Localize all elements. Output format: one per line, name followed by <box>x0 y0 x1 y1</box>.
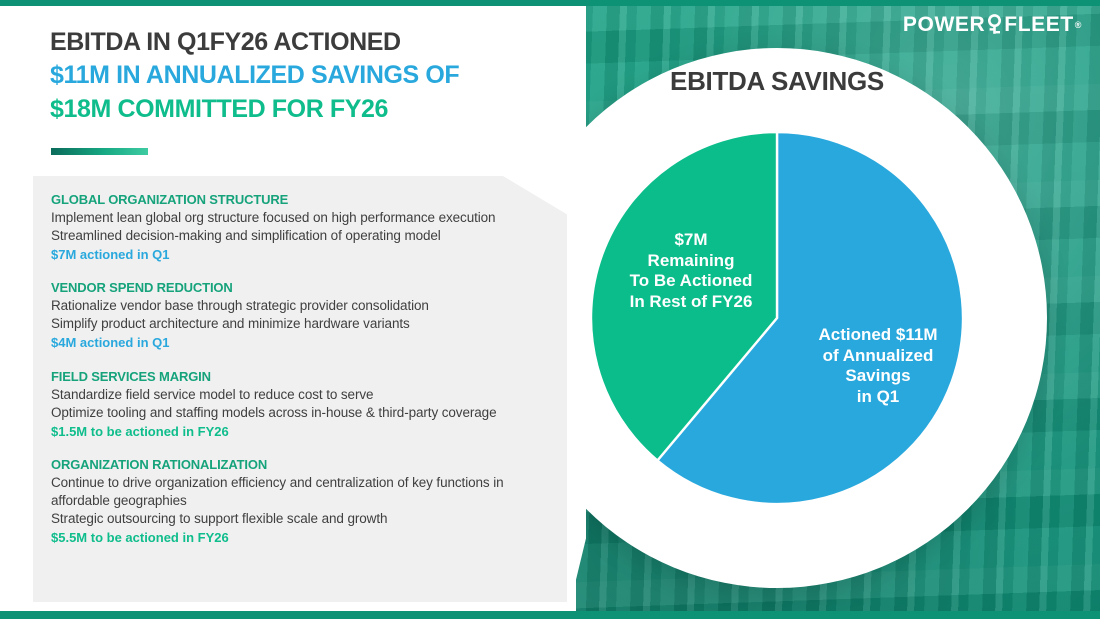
initiative-section: FIELD SERVICES MARGINStandardize field s… <box>51 369 511 440</box>
initiative-bullet: Implement lean global org structure focu… <box>51 209 511 227</box>
initiative-heading: FIELD SERVICES MARGIN <box>51 369 511 384</box>
initiative-heading: VENDOR SPEND REDUCTION <box>51 280 511 295</box>
chart-title: EBITDA SAVINGS <box>507 66 1047 97</box>
pie-slice-label-actioned: Actioned $11M of Annualized Savings in Q… <box>783 325 973 408</box>
top-accent-rule <box>0 0 1100 6</box>
logo-word-fleet: FLEET <box>1004 14 1074 35</box>
ebitda-savings-pie-chart <box>591 132 963 504</box>
initiative-bullet: Continue to drive organization efficienc… <box>51 474 511 510</box>
registered-mark-icon: ® <box>1075 20 1082 30</box>
initiative-savings-total: $4M actioned in Q1 <box>51 334 511 352</box>
initiative-bullet: Optimize tooling and staffing models acr… <box>51 404 511 422</box>
initiative-bullet: Standardize field service model to reduc… <box>51 386 511 404</box>
initiative-section: ORGANIZATION RATIONALIZATIONContinue to … <box>51 457 511 546</box>
initiative-section: VENDOR SPEND REDUCTIONRationalize vendor… <box>51 280 511 351</box>
powerfleet-mark-icon <box>986 14 1003 35</box>
logo-word-power: POWER <box>903 14 985 35</box>
page-title: EBITDA IN Q1FY26 ACTIONED $11M IN ANNUAL… <box>50 26 550 126</box>
headline-line-3: $18M COMMITTED FOR FY26 <box>50 93 550 126</box>
powerfleet-logo: POWER FLEET ® <box>903 14 1082 35</box>
initiative-heading: ORGANIZATION RATIONALIZATION <box>51 457 511 472</box>
initiatives-list: GLOBAL ORGANIZATION STRUCTUREImplement l… <box>51 192 511 547</box>
headline-line-1: EBITDA IN Q1FY26 ACTIONED <box>50 26 550 59</box>
initiative-bullet: Rationalize vendor base through strategi… <box>51 297 511 315</box>
title-accent-bar <box>51 148 148 155</box>
initiative-bullet: Streamlined decision-making and simplifi… <box>51 227 511 245</box>
initiative-savings-total: $7M actioned in Q1 <box>51 246 511 264</box>
initiative-section: GLOBAL ORGANIZATION STRUCTUREImplement l… <box>51 192 511 263</box>
initiative-bullet: Simplify product architecture and minimi… <box>51 315 511 333</box>
initiative-savings-total: $5.5M to be actioned in FY26 <box>51 529 511 547</box>
initiative-savings-total: $1.5M to be actioned in FY26 <box>51 423 511 441</box>
initiative-bullet: Strategic outsourcing to support flexibl… <box>51 510 511 528</box>
initiative-heading: GLOBAL ORGANIZATION STRUCTURE <box>51 192 511 207</box>
slide-canvas: POWER FLEET ® EBITDA SAVINGS $7M Remaini… <box>0 0 1100 619</box>
bottom-accent-rule <box>0 611 1100 619</box>
headline-line-2: $11M IN ANNUALIZED SAVINGS OF <box>50 59 550 92</box>
pie-slice-label-remaining: $7M Remaining To Be Actioned In Rest of … <box>593 230 789 313</box>
